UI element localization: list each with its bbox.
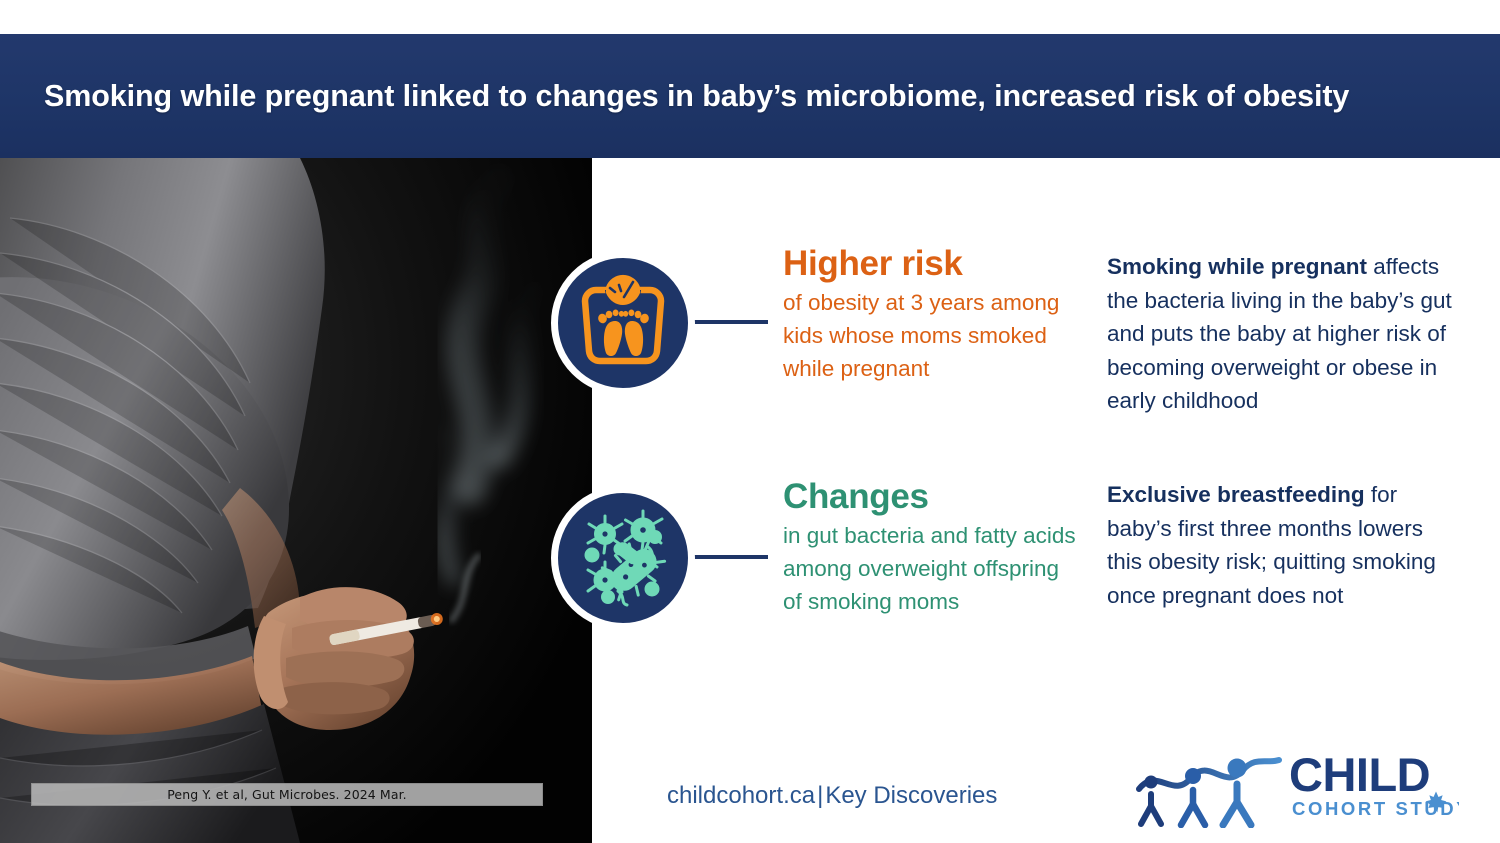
weight-scale-icon <box>571 273 675 373</box>
highlight-heading-higher-risk: Higher risk <box>783 245 1083 282</box>
highlight-changes: Changes in gut bacteria and fatty acids … <box>783 478 1083 618</box>
logo-wordmark: CHILD <box>1289 748 1430 801</box>
bacteria-icon <box>570 505 676 611</box>
footer-link[interactable]: childcohort.ca|Key Discoveries <box>667 782 997 810</box>
footer-site[interactable]: childcohort.ca <box>667 782 815 809</box>
bacteria-badge <box>551 486 695 630</box>
child-cohort-logo: CHILD COHORT STUDY <box>1129 744 1459 828</box>
child-logo-mark: CHILD COHORT STUDY <box>1129 744 1459 828</box>
footer-separator: | <box>815 782 825 809</box>
citation-text: Peng Y. et al, Gut Microbes. 2024 Mar. <box>167 787 407 802</box>
paragraph-2-lead: Exclusive breastfeeding <box>1107 482 1365 507</box>
highlight-body-higher-risk: of obesity at 3 years among kids whose m… <box>783 286 1083 385</box>
header-banner: Smoking while pregnant linked to changes… <box>0 34 1500 158</box>
highlight-higher-risk: Higher risk of obesity at 3 years among … <box>783 245 1083 385</box>
connector-line-higher-risk <box>690 320 768 324</box>
hero-photo: Peng Y. et al, Gut Microbes. 2024 Mar. <box>0 158 592 843</box>
paragraph-1-lead: Smoking while pregnant <box>1107 254 1367 279</box>
footer-section[interactable]: Key Discoveries <box>825 782 997 809</box>
page-title: Smoking while pregnant linked to changes… <box>0 79 1349 114</box>
pregnant-woman-photo-illustration <box>0 158 592 843</box>
paragraph-smoking-effects: Smoking while pregnant affects the bacte… <box>1107 250 1459 418</box>
paragraph-breastfeeding: Exclusive breastfeeding for baby’s first… <box>1107 478 1459 612</box>
connector-line-changes <box>690 555 768 559</box>
highlight-body-changes: in gut bacteria and fatty acids among ov… <box>783 519 1083 618</box>
weight-scale-badge <box>551 251 695 395</box>
photo-citation: Peng Y. et al, Gut Microbes. 2024 Mar. <box>31 783 543 806</box>
highlight-heading-changes: Changes <box>783 478 1083 515</box>
